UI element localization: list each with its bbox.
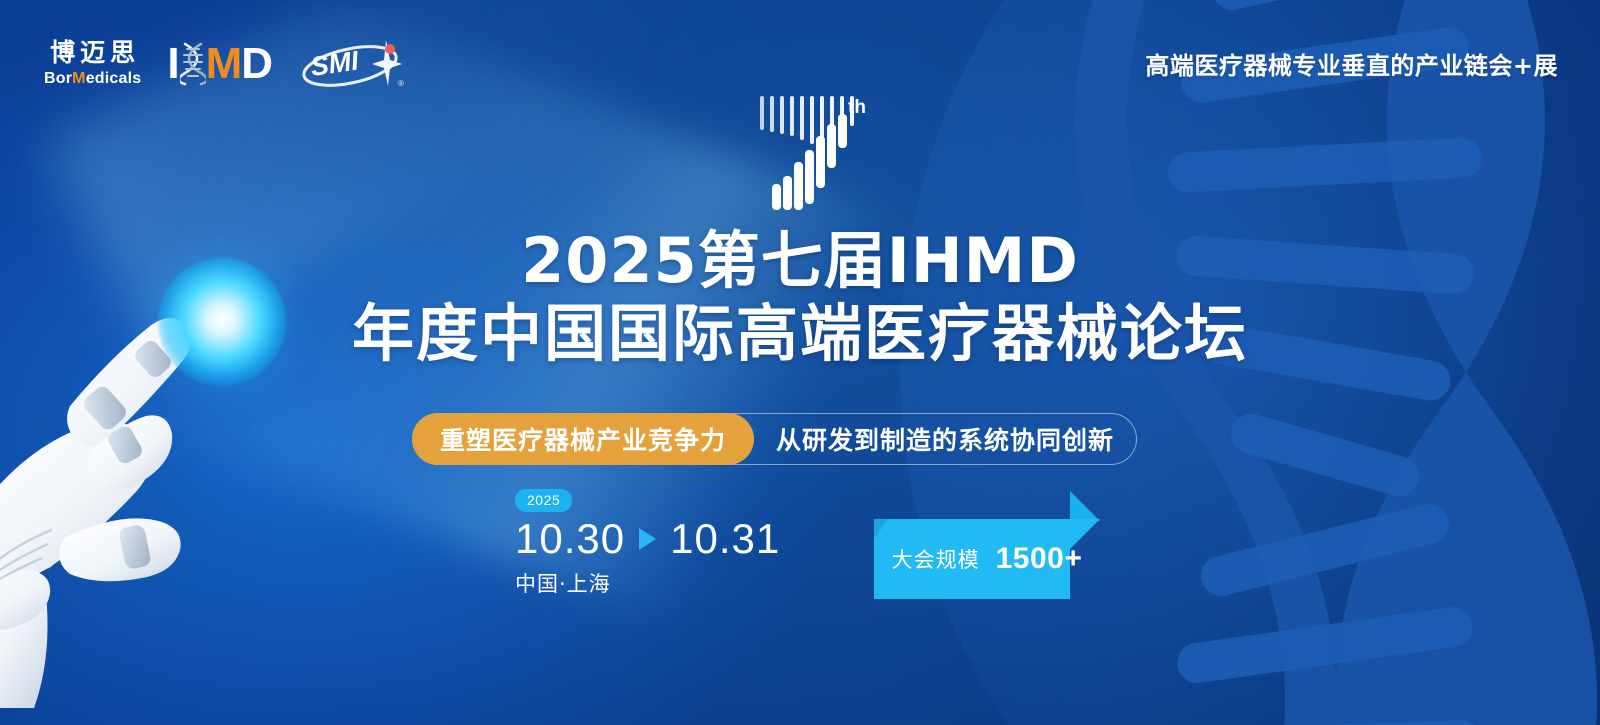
partner-logos: 博迈思 BorMedicals I: [44, 36, 408, 92]
logo-smi: SMI ®: [298, 36, 408, 92]
event-city: 中国·上海: [515, 568, 780, 598]
scale-flag: 大会规模 1500+: [874, 491, 1100, 599]
logo-bormedicals-en-post: edicals: [86, 70, 142, 87]
logo-bormedicals-en-pre: Bor: [44, 70, 72, 87]
event-tagline: 高端医疗器械专业垂直的产业链会+展: [1145, 46, 1558, 81]
title-line-1: 2025第七届IHMD: [0, 228, 1600, 295]
svg-text:SMI: SMI: [309, 45, 361, 81]
svg-text:®: ®: [398, 79, 404, 88]
scale-content: 大会规模 1500+: [874, 519, 1100, 599]
event-banner: 博迈思 BorMedicals I: [0, 0, 1600, 725]
logo-ihmd-md: MD: [206, 42, 272, 86]
subtitle-row: 重塑医疗器械产业竞争力 从研发到制造的系统协同创新: [412, 413, 1137, 465]
title-line-2: 年度中国国际高端医疗器械论坛: [0, 299, 1600, 368]
dna-helix-icon: [180, 42, 206, 86]
subtitle-pill: 重塑医疗器械产业竞争力: [412, 413, 754, 465]
year-badge: 2025: [515, 489, 572, 512]
logo-ihmd-m: M: [206, 39, 242, 88]
scale-value: 1500+: [996, 542, 1083, 576]
scale-label: 大会规模: [892, 544, 980, 574]
date-start: 10.30: [515, 518, 625, 560]
edition-suffix: th: [848, 97, 866, 119]
event-title: 2025第七届IHMD 年度中国国际高端医疗器械论坛: [0, 228, 1600, 368]
logo-ihmd: I MD: [167, 41, 272, 87]
date-range: 10.30 10.31: [515, 518, 780, 560]
date-end: 10.31: [670, 518, 780, 560]
triangle-right-icon: [639, 528, 656, 550]
logo-ihmd-i: I: [167, 42, 179, 86]
logo-bormedicals-en: BorMedicals: [44, 71, 141, 87]
logo-bormedicals-cn: 博迈思: [45, 41, 140, 66]
subtitle-text: 从研发到制造的系统协同创新: [776, 421, 1114, 457]
event-date-block: 2025 10.30 10.31 中国·上海: [515, 489, 780, 598]
logo-ihmd-d: D: [241, 39, 272, 88]
logo-bormedicals: 博迈思 BorMedicals: [44, 41, 141, 87]
logo-bormedicals-en-m: M: [72, 70, 86, 87]
